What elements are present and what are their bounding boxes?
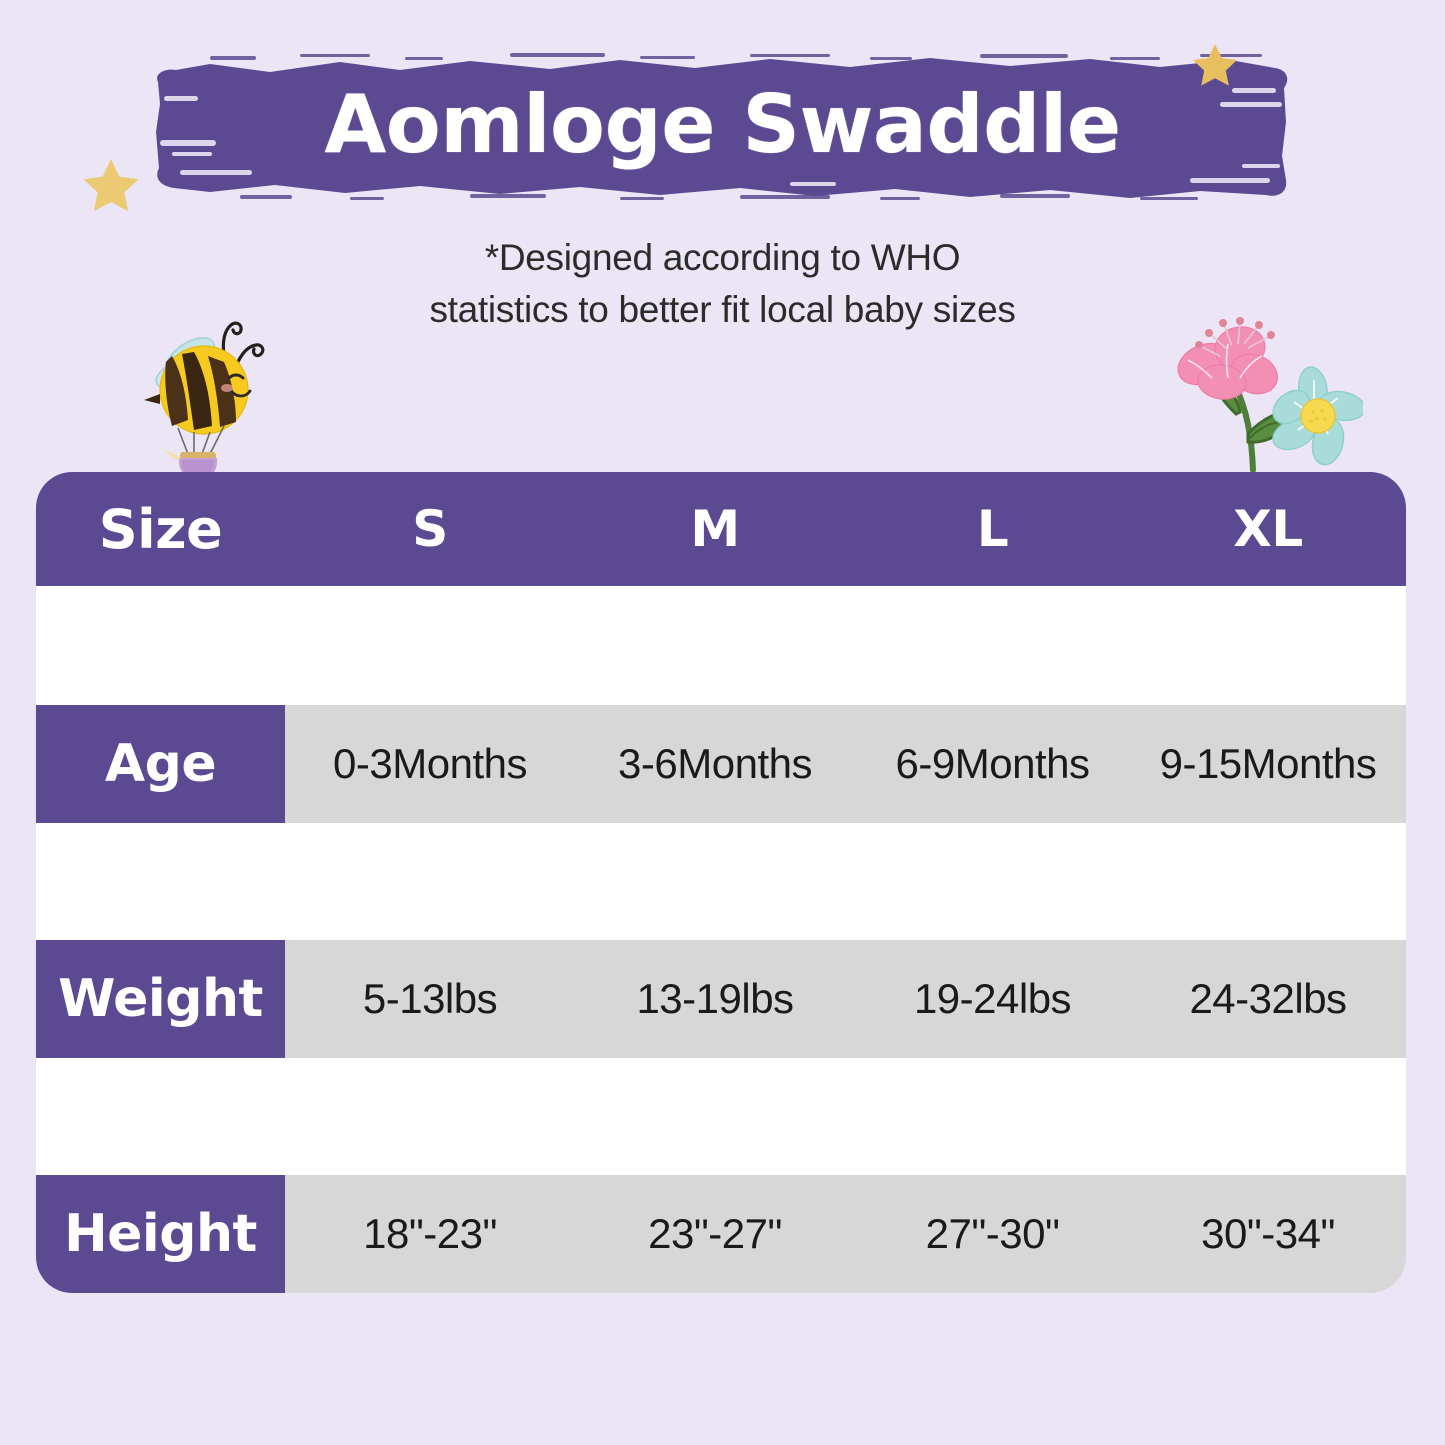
table-cell-height-xl: 30"-34" — [1130, 1175, 1406, 1293]
table-cell-weight-s: 5-13lbs — [285, 940, 575, 1058]
star-icon — [82, 156, 140, 214]
table-header-col-l: L — [855, 472, 1130, 586]
subtitle-line-1: *Designed according to WHO — [0, 232, 1445, 284]
table-cell-age-s: 0-3Months — [285, 705, 575, 823]
table-cell-weight-l: 19-24lbs — [855, 940, 1130, 1058]
star-icon — [1192, 42, 1238, 88]
table-cell-age-m: 3-6Months — [575, 705, 855, 823]
table-cell-height-l: 27"-30" — [855, 1175, 1130, 1293]
table-cell-age-l: 6-9Months — [855, 705, 1130, 823]
table-header-size-label: Size — [36, 472, 285, 586]
table-cell-weight-m: 13-19lbs — [575, 940, 855, 1058]
table-cell-age-xl: 9-15Months — [1130, 705, 1406, 823]
table-cell-weight-xl: 24-32lbs — [1130, 940, 1406, 1058]
table-cell-height-s: 18"-23" — [285, 1175, 575, 1293]
table-cell-height-m: 23"-27" — [575, 1175, 855, 1293]
size-chart-table: Size S M L XL Age 0-3Months 3-6Months 6-… — [36, 472, 1406, 1290]
table-header-col-xl: XL — [1130, 472, 1406, 586]
table-row-label-weight: Weight — [36, 940, 285, 1058]
table-header-col-s: S — [285, 472, 575, 586]
flowers-illustration — [1148, 302, 1363, 477]
table-row-label-height: Height — [36, 1175, 285, 1293]
table-header-col-m: M — [575, 472, 855, 586]
table-row-label-age: Age — [36, 705, 285, 823]
bee-illustration — [132, 308, 282, 480]
